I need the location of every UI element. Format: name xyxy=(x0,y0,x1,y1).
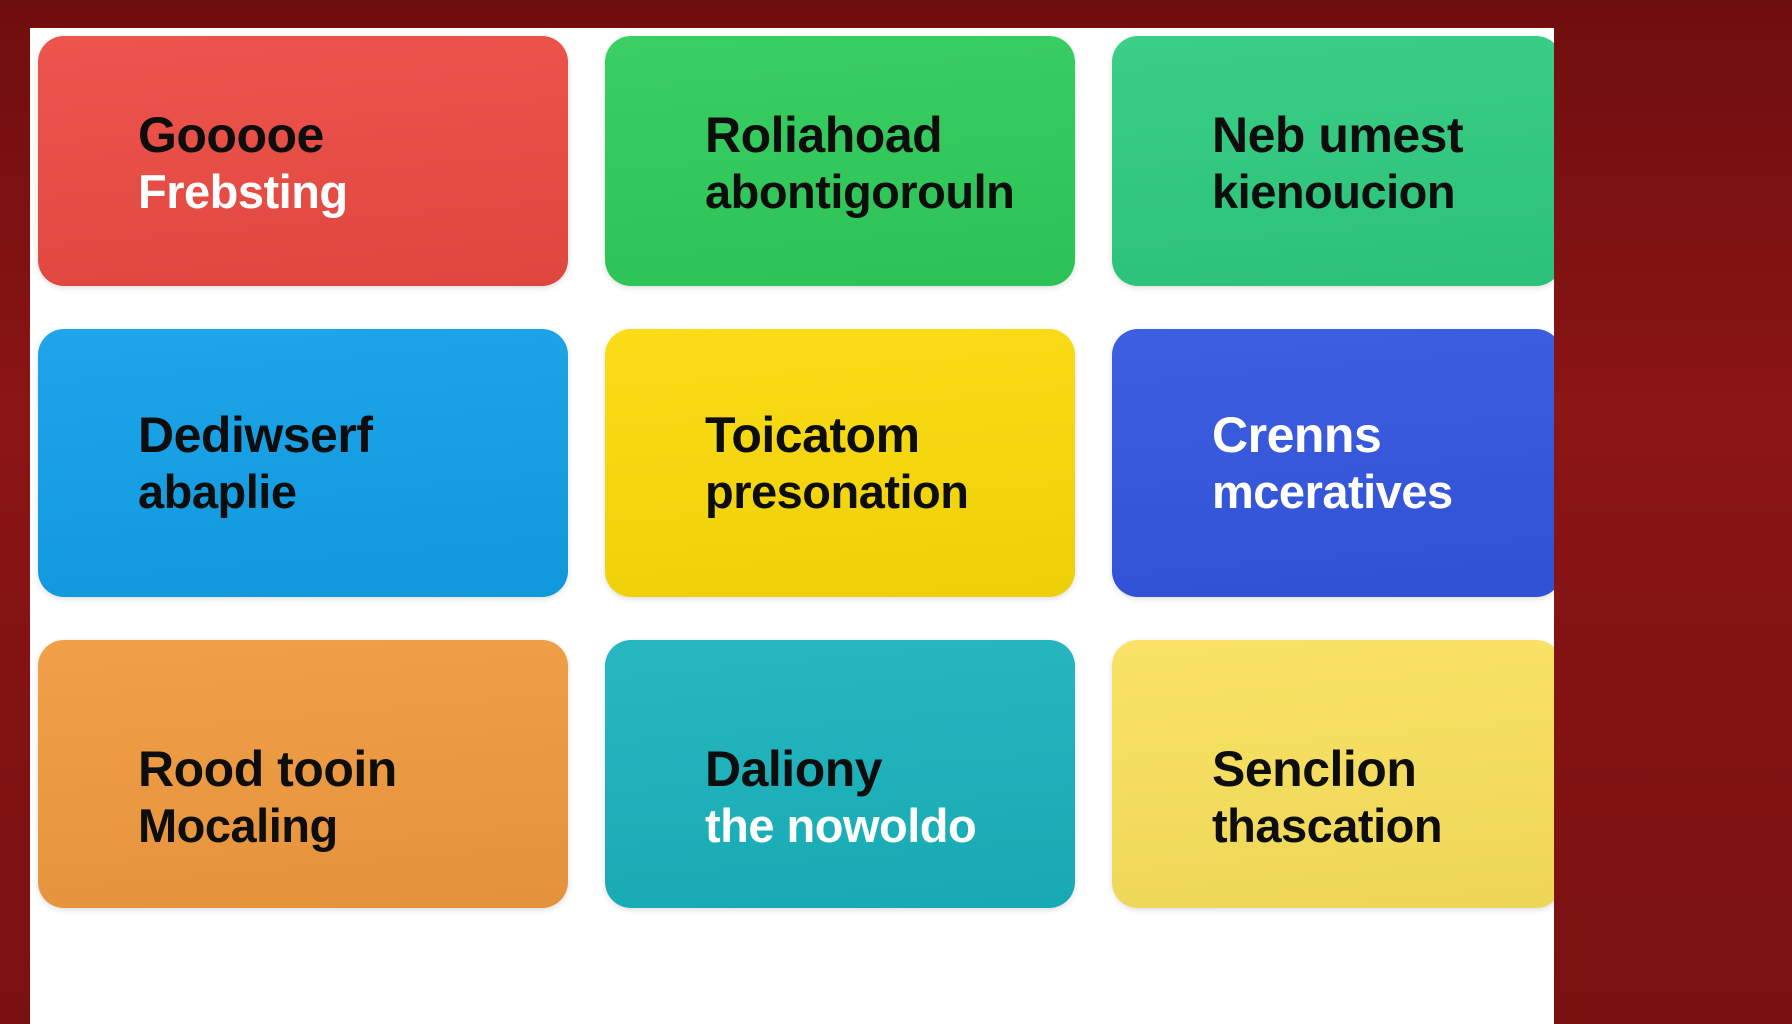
card-title: Senclion xyxy=(1212,740,1554,798)
card-text-stack: Gooooe Frebsting xyxy=(138,106,568,220)
card-subtitle: Mocaling xyxy=(138,798,568,854)
content-card[interactable]: Roliahoad abontigorouln xyxy=(605,36,1075,286)
card-title: Crenns xyxy=(1212,406,1554,464)
card-subtitle: abaplie xyxy=(138,464,568,520)
card-grid: Gooooe Frebsting Roliahoad abontigorouln… xyxy=(30,28,1554,1024)
card-title: Roliahoad xyxy=(705,106,1075,164)
card-text-stack: Daliony the nowoldo xyxy=(705,740,1075,854)
card-text-stack: Neb umest kienoucion xyxy=(1212,106,1554,220)
content-card[interactable]: Rood tooin Mocaling xyxy=(38,640,568,908)
card-title: Toicatom xyxy=(705,406,1075,464)
content-card[interactable]: Dediwserf abaplie xyxy=(38,329,568,597)
card-text-stack: Toicatom presonation xyxy=(705,406,1075,520)
card-text-stack: Crenns mceratives xyxy=(1212,406,1554,520)
content-card[interactable]: Toicatom presonation xyxy=(605,329,1075,597)
card-text-stack: Rood tooin Mocaling xyxy=(138,740,568,854)
card-title: Daliony xyxy=(705,740,1075,798)
app-frame: Gooooe Frebsting Roliahoad abontigorouln… xyxy=(0,0,1792,1024)
card-text-stack: Senclion thascation xyxy=(1212,740,1554,854)
card-title: Gooooe xyxy=(138,106,568,164)
card-subtitle: kienoucion xyxy=(1212,164,1554,220)
card-subtitle: thascation xyxy=(1212,798,1554,854)
card-board: Gooooe Frebsting Roliahoad abontigorouln… xyxy=(30,28,1554,1024)
content-card[interactable]: Crenns mceratives xyxy=(1112,329,1554,597)
content-card[interactable]: Gooooe Frebsting xyxy=(38,36,568,286)
card-title: Neb umest xyxy=(1212,106,1554,164)
card-title: Dediwserf xyxy=(138,406,568,464)
content-card[interactable]: Neb umest kienoucion xyxy=(1112,36,1554,286)
card-subtitle: presonation xyxy=(705,464,1075,520)
card-text-stack: Roliahoad abontigorouln xyxy=(705,106,1075,220)
card-title: Rood tooin xyxy=(138,740,568,798)
content-card[interactable]: Daliony the nowoldo xyxy=(605,640,1075,908)
card-subtitle: the nowoldo xyxy=(705,798,1075,854)
card-subtitle: abontigorouln xyxy=(705,164,1075,220)
content-card[interactable]: Senclion thascation xyxy=(1112,640,1554,908)
card-subtitle: Frebsting xyxy=(138,164,568,220)
card-subtitle: mceratives xyxy=(1212,464,1554,520)
card-text-stack: Dediwserf abaplie xyxy=(138,406,568,520)
